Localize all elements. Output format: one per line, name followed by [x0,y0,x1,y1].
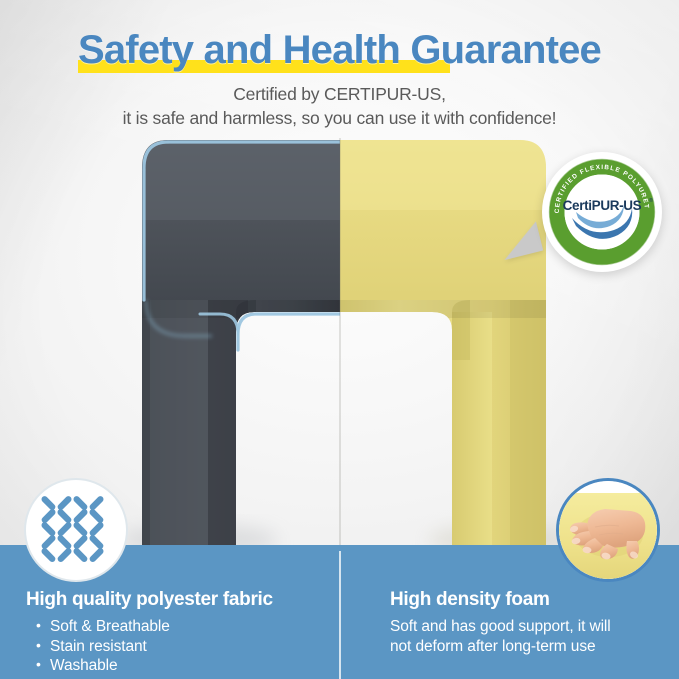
header: Safety and Health Guarantee Certified by… [0,24,679,130]
list-item: Washable [50,656,326,676]
title-wrap: Safety and Health Guarantee [72,24,607,76]
subtitle-line-1: Certified by CERTIPUR-US, [0,82,679,106]
svg-text:®: ® [649,197,653,204]
title-rest-part: Guarantee [400,28,601,72]
list-item: Stain resistant [50,637,326,657]
fabric-weave-icon [24,478,128,582]
banner-divider [339,551,341,679]
list-item: Soft & Breathable [50,617,326,637]
badge-wordmark: CertiPUR-US [563,198,642,213]
feature-right-desc-line-2: not deform after long-term use [390,637,665,657]
subtitle-line-2: it is safe and harmless, so you can use … [0,106,679,130]
feature-left-list: Soft & Breathable Stain resistant Washab… [26,617,326,676]
feature-left-title: High quality polyester fabric [26,588,326,612]
page-title: Safety and Health Guarantee [78,24,601,76]
subtitle: Certified by CERTIPUR-US, it is safe and… [0,82,679,130]
product-infographic: Safety and Health Guarantee Certified by… [0,0,679,679]
feature-polyester-fabric: High quality polyester fabric Soft & Bre… [26,588,326,676]
feature-right-description: Soft and has good support, it will not d… [390,617,665,657]
certipur-us-badge: CONTAINS CERTIFIED FLEXIBLE POLYURETHANE… [542,152,662,272]
title-highlighted-part: Safety and Health [78,28,400,72]
feature-right-desc-line-1: Soft and has good support, it will [390,617,665,637]
hand-pressing-foam-icon [556,478,660,582]
feature-high-density-foam: High density foam Soft and has good supp… [390,588,665,657]
feature-right-title: High density foam [390,588,665,612]
